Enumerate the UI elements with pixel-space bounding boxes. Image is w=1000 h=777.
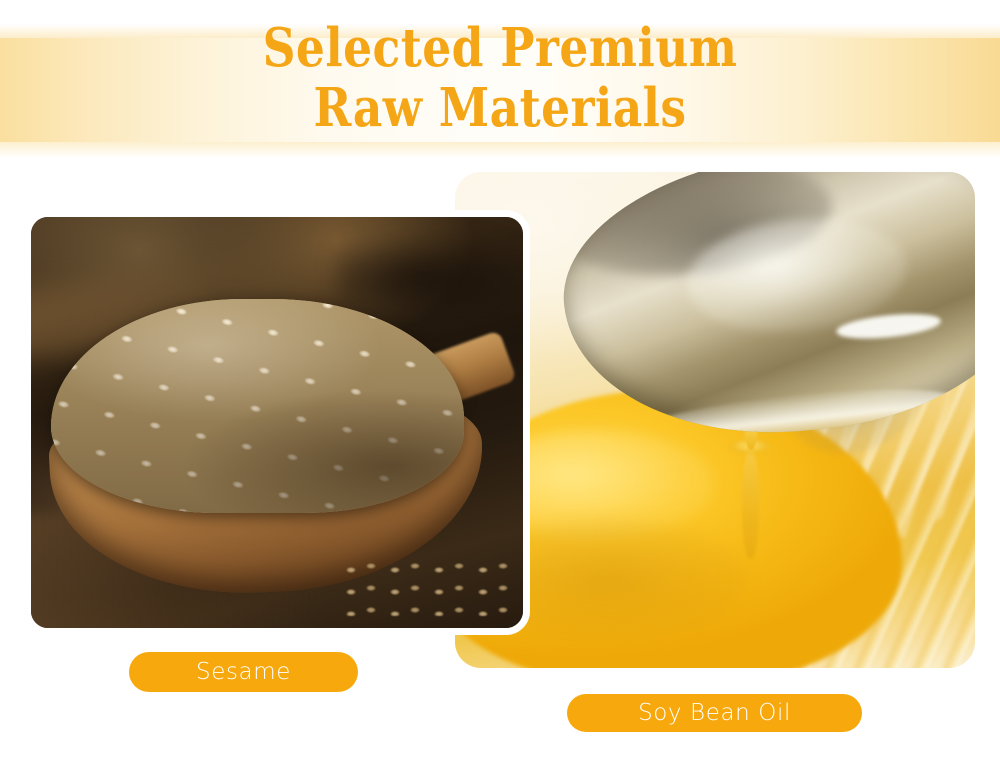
banner-root: Selected Premium Raw Materials [0, 0, 1000, 777]
sesame-seed-heap [51, 299, 464, 513]
header: Selected Premium Raw Materials [0, 0, 1000, 160]
page-title-line-1: Selected Premium [70, 18, 930, 78]
page-title: Selected Premium Raw Materials [70, 18, 930, 138]
sesame-seed-shading [51, 299, 464, 513]
loose-sesame-seeds [341, 562, 508, 615]
sesame-photo[interactable] [24, 210, 530, 635]
oil-stream-lower [742, 450, 759, 559]
soy-bean-oil-photo[interactable] [455, 172, 975, 668]
page-title-line-2: Raw Materials [70, 78, 930, 138]
soy-bean-oil-label-pill[interactable]: Soy Bean Oil [567, 694, 862, 732]
sesame-label-pill[interactable]: Sesame [129, 652, 358, 692]
